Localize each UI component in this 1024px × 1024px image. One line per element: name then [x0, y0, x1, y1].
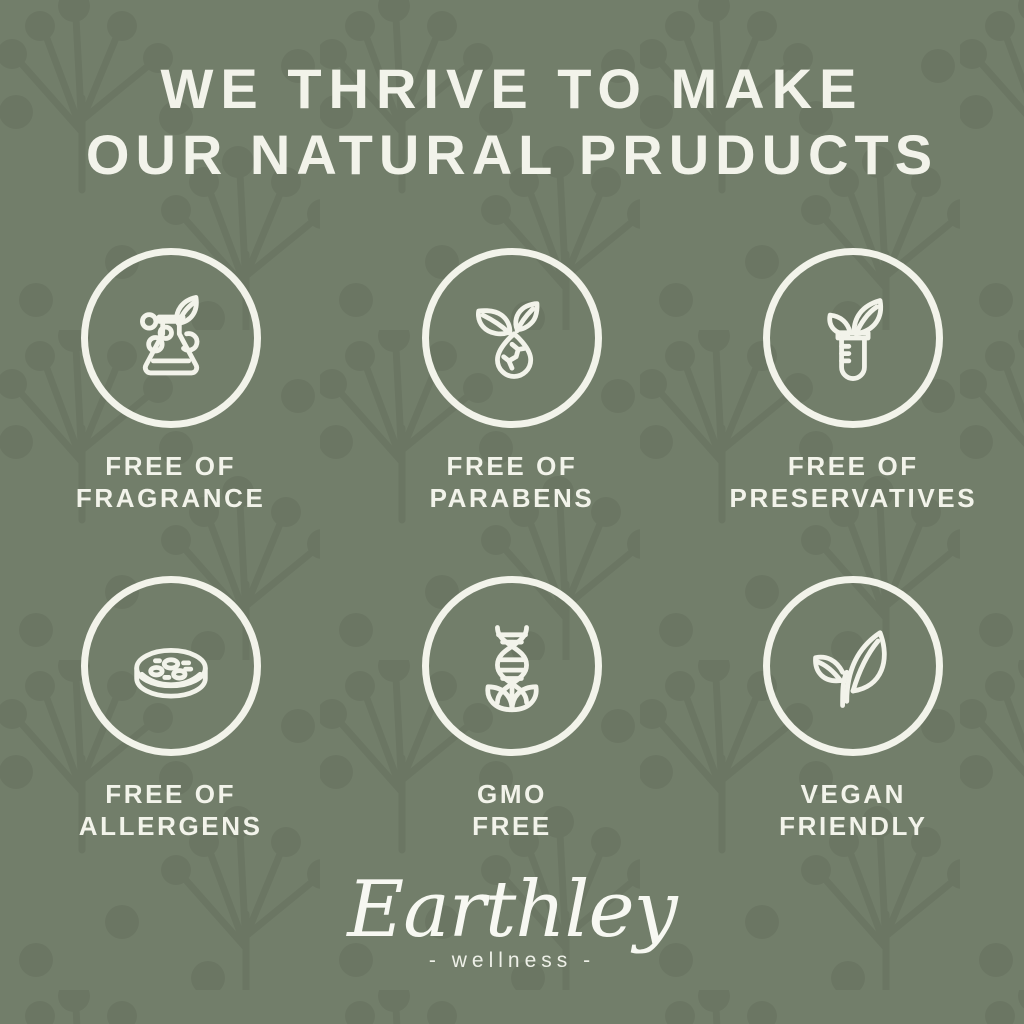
headline-line-1: WE THRIVE TO MAKE [86, 56, 938, 122]
test-tube-with-leaves-icon [801, 286, 905, 390]
badge-label: FREE OF ALLERGENS [79, 778, 263, 842]
badge-label-line-2: PRESERVATIVES [730, 482, 978, 514]
badge-label-line-2: FRAGRANCE [76, 482, 266, 514]
droplet-leaf-molecule-icon [460, 286, 564, 390]
badge-free-of-preservatives: FREE OF PRESERVATIVES [683, 248, 1024, 514]
badge-gmo-free: GMO FREE [341, 576, 682, 842]
badge-label-line-2: FREE [472, 810, 552, 842]
two-leaves-icon [801, 614, 905, 718]
brand-logo: Earthley - wellness - [347, 873, 676, 974]
badge-label-line-1: FREE OF [430, 450, 595, 482]
badge-vegan-friendly: VEGAN FRIENDLY [683, 576, 1024, 842]
badge-free-of-parabens: FREE OF PARABENS [341, 248, 682, 514]
badge-label-line-2: PARABENS [430, 482, 595, 514]
badge-ring [81, 248, 261, 428]
badge-ring [422, 576, 602, 756]
petri-dish-icon [119, 614, 223, 718]
badge-free-of-fragrance: FREE OF FRAGRANCE [0, 248, 341, 514]
badge-grid: FREE OF FRAGRANCE [0, 248, 1024, 843]
badge-label-line-1: FREE OF [730, 450, 978, 482]
badge-label-line-2: FRIENDLY [779, 810, 927, 842]
badge-label-line-1: FREE OF [79, 778, 263, 810]
headline-line-2: OUR NATURAL PRUDUCTS [86, 122, 938, 188]
badge-label: FREE OF PARABENS [430, 450, 595, 514]
poster-content: WE THRIVE TO MAKE OUR NATURAL PRUDUCTS [0, 0, 1024, 1024]
badge-ring [763, 248, 943, 428]
badge-label-line-1: FREE OF [76, 450, 266, 482]
badge-ring [81, 576, 261, 756]
poster: WE THRIVE TO MAKE OUR NATURAL PRUDUCTS [0, 0, 1024, 1024]
badge-label: VEGAN FRIENDLY [779, 778, 927, 842]
badge-label: FREE OF PRESERVATIVES [730, 450, 978, 514]
badge-free-of-allergens: FREE OF ALLERGENS [0, 576, 341, 842]
badge-ring [422, 248, 602, 428]
badge-label: FREE OF FRAGRANCE [76, 450, 266, 514]
page-title: WE THRIVE TO MAKE OUR NATURAL PRUDUCTS [86, 56, 938, 188]
badge-label-line-2: ALLERGENS [79, 810, 263, 842]
logo-wordmark: Earthley [347, 873, 676, 948]
badge-label-line-1: VEGAN [779, 778, 927, 810]
badge-label-line-1: GMO [472, 778, 552, 810]
badge-label: GMO FREE [472, 778, 552, 842]
badge-ring [763, 576, 943, 756]
flask-with-leaf-icon [119, 286, 223, 390]
dna-plant-icon [460, 614, 564, 718]
